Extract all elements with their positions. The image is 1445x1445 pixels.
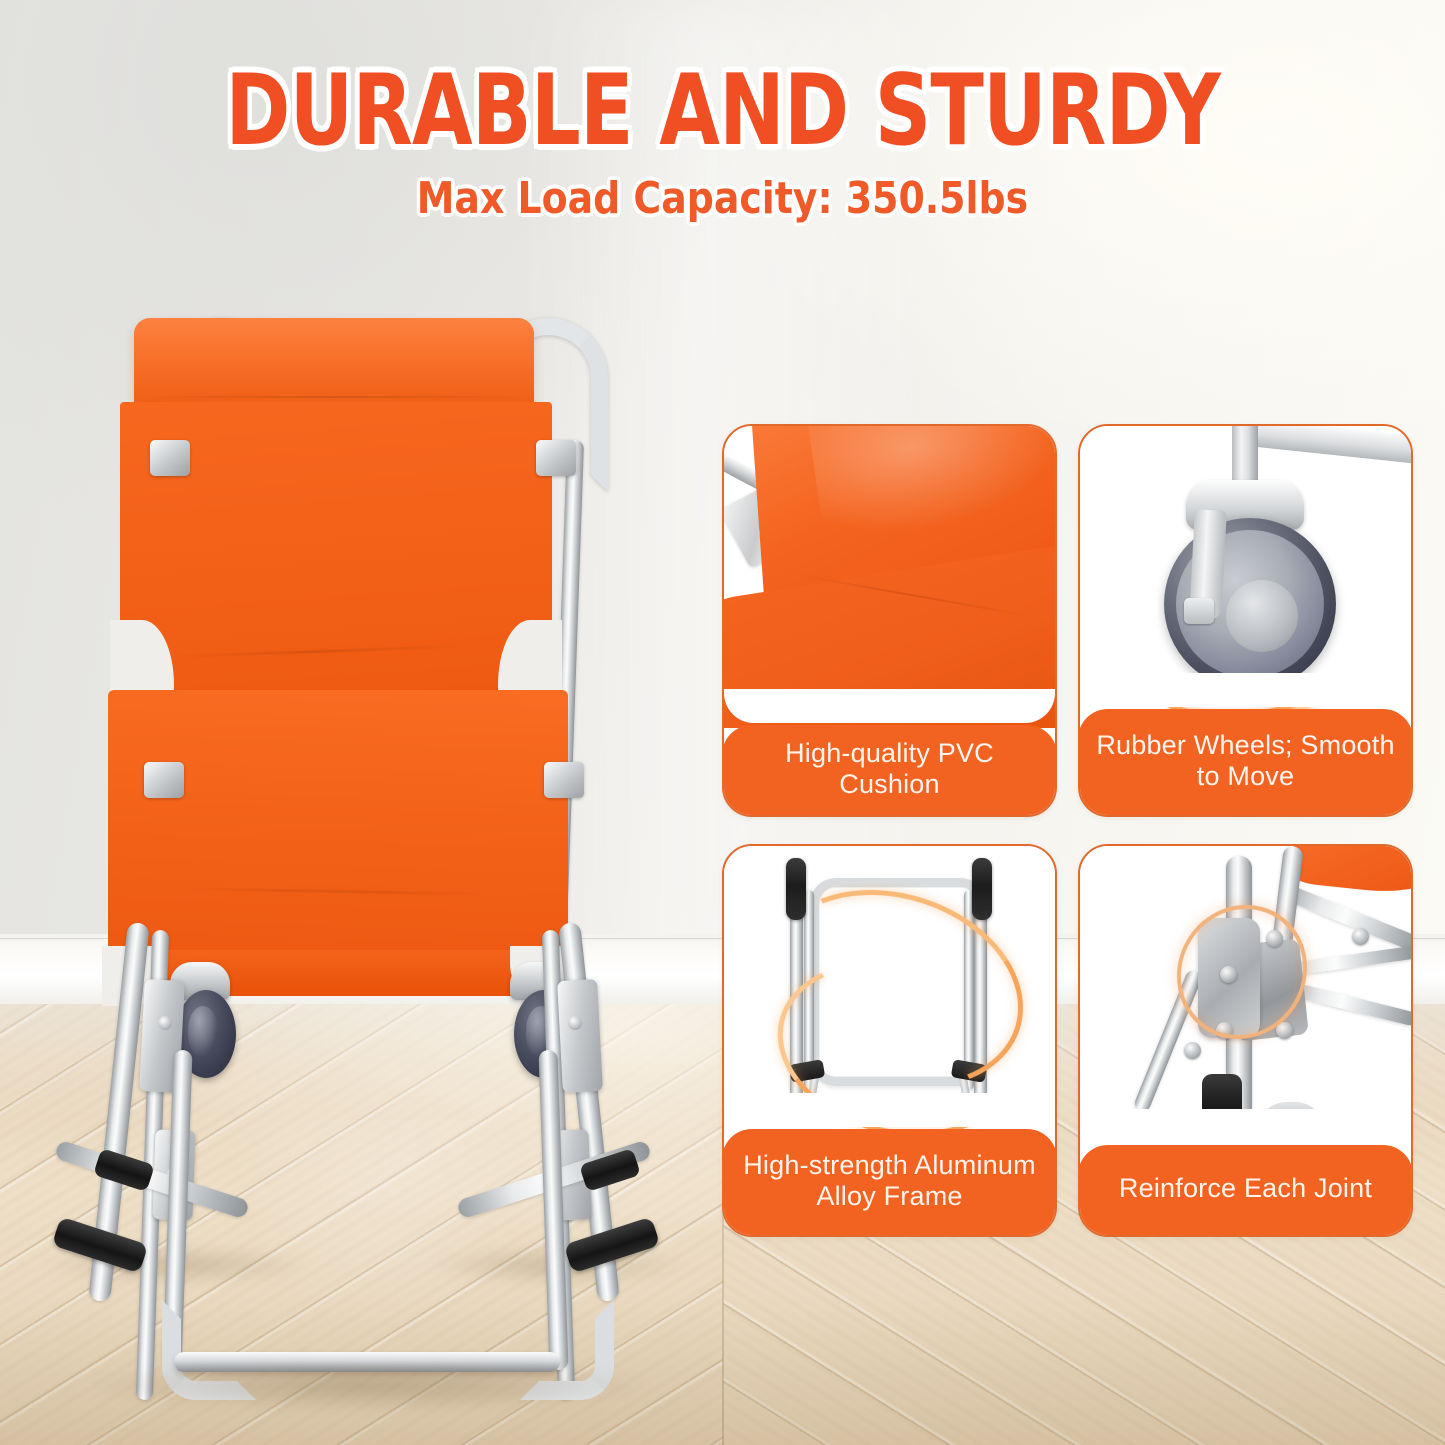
frame-bracket-upper-right [536, 440, 576, 476]
card-caption-bar-3: High-strength Aluminum Alloy Frame [722, 1129, 1057, 1237]
card-caption-text-3: High-strength Aluminum Alloy Frame [743, 1150, 1036, 1213]
feature-card-grid: High-quality PVC Cushion [722, 424, 1412, 1234]
feature-card-alloy-frame[interactable]: High-strength Aluminum Alloy Frame [722, 844, 1057, 1237]
hinge-pin-2 [568, 1016, 582, 1030]
folded-frame-handle-right [972, 858, 992, 920]
frame-bracket-upper-left [150, 440, 190, 476]
product-feature-banner: DURABLE AND STURDY Max Load Capacity: 35… [0, 0, 1445, 1445]
wheel-frame-rail [1254, 426, 1411, 465]
pvc-seat-sheen [248, 1120, 528, 1330]
card-photo-pvc-cushion [724, 426, 1055, 728]
joint-caster-mount [1256, 1102, 1326, 1142]
hinge-upper-right [557, 979, 603, 1093]
frame-bracket-mid-left [144, 762, 184, 798]
cushion-highlight [808, 426, 1055, 545]
feature-card-pvc-cushion[interactable]: High-quality PVC Cushion [722, 424, 1057, 817]
joint-rubber-grip [1202, 1074, 1242, 1140]
product-image-stair-chair [58, 290, 678, 1430]
product-ground-shadow [78, 1358, 658, 1412]
card-caption-bar-4: Reinforce Each Joint [1078, 1145, 1413, 1237]
card-photo-folded-frame [724, 846, 1055, 1148]
hinge-pin-1 [158, 1016, 172, 1030]
wheel-stem [1232, 426, 1258, 488]
joint-bolt-4 [1184, 1042, 1201, 1059]
card-caption-bar-2: Rubber Wheels; Smooth to Move [1078, 709, 1413, 817]
pvc-seat-panel [108, 690, 568, 990]
card-caption-bar-1: High-quality PVC Cushion [722, 725, 1057, 817]
card-caption-text-1: High-quality PVC Cushion [732, 738, 1047, 801]
card-caption-text-2: Rubber Wheels; Smooth to Move [1096, 730, 1394, 793]
card-photo-caster-wheel [1080, 426, 1411, 728]
card-caption-text-4: Reinforce Each Joint [1119, 1173, 1372, 1204]
feature-card-rubber-wheels[interactable]: Rubber Wheels; Smooth to Move [1078, 424, 1413, 817]
pvc-headrest-fold [134, 318, 534, 404]
joint-pvc-corner [1289, 846, 1411, 898]
card-photo-joint-closeup [1080, 846, 1411, 1148]
joint-bolt-5 [1352, 928, 1369, 945]
frame-bracket-mid-right [544, 762, 584, 798]
feature-card-reinforced-joints[interactable]: Reinforce Each Joint [1078, 844, 1413, 1237]
